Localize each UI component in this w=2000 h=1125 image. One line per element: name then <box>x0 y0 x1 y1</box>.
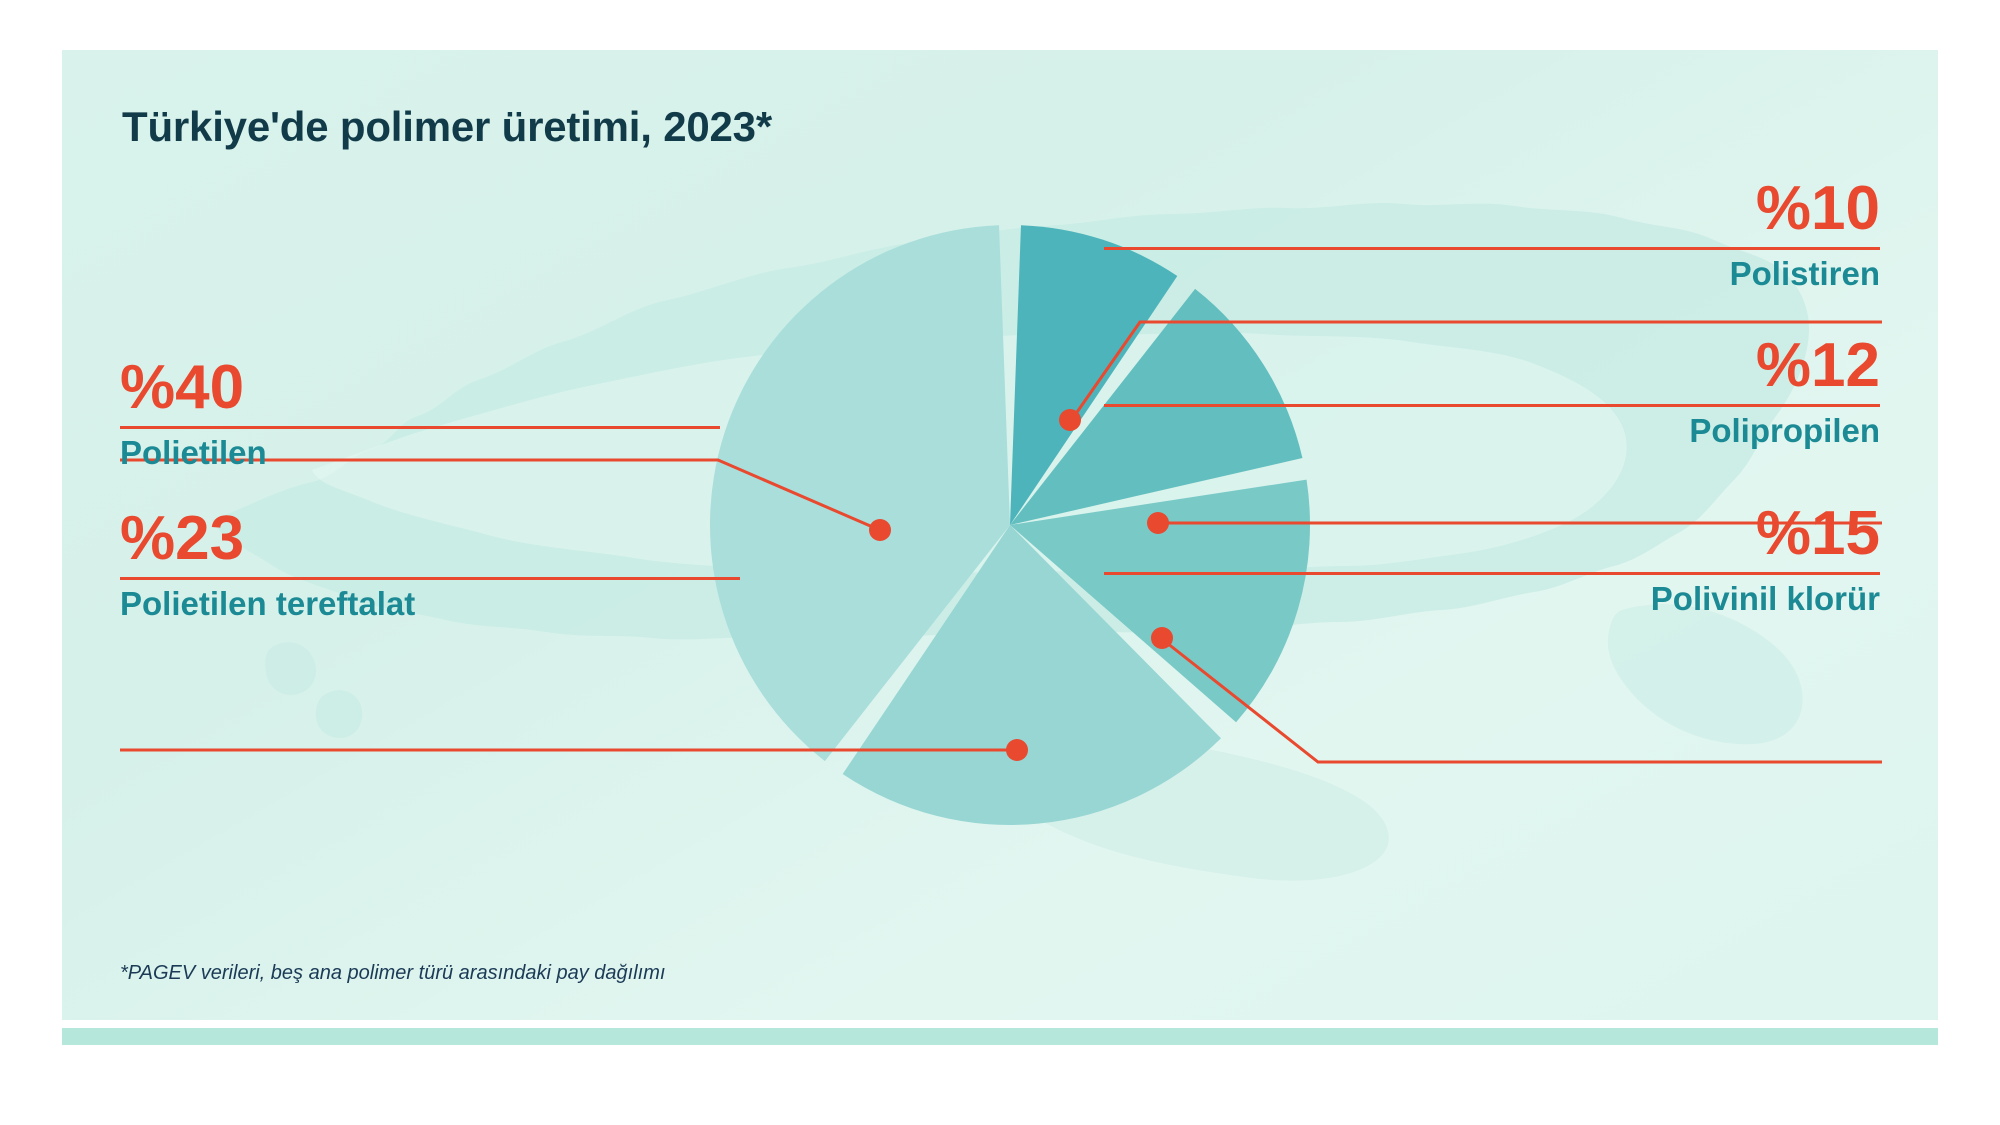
callout-percent-polipropilen: %12 <box>1104 335 1880 397</box>
callout-label-pvc: Polivinil klorür <box>1104 581 1880 617</box>
callout-percent-polietilen: %40 <box>120 357 720 419</box>
callout-rule-polietilen <box>120 426 720 429</box>
callout-label-polipropilen: Polipropilen <box>1104 413 1880 449</box>
callout-rule-pet <box>120 577 740 580</box>
callout-label-polietilen: Polietilen <box>120 435 720 471</box>
callout-pet: %23 Polietilen tereftalat <box>120 508 740 622</box>
chart-footnote: *PAGEV verileri, beş ana polimer türü ar… <box>120 962 665 985</box>
callout-polietilen: %40 Polietilen <box>120 357 720 471</box>
callout-polipropilen: %12 Polipropilen <box>1104 335 1880 449</box>
callout-percent-pvc: %15 <box>1104 503 1880 565</box>
callout-label-pet: Polietilen tereftalat <box>120 586 740 622</box>
bottom-accent-bar <box>62 1028 1938 1045</box>
page-title: Türkiye'de polimer üretimi, 2023* <box>122 103 772 151</box>
callout-percent-polistiren: %10 <box>1104 178 1880 240</box>
callout-label-polistiren: Polistiren <box>1104 256 1880 292</box>
callout-rule-polistiren <box>1104 247 1880 250</box>
callout-polistiren: %10 Polistiren <box>1104 178 1880 292</box>
callout-percent-pet: %23 <box>120 508 740 570</box>
callout-pvc: %15 Polivinil klorür <box>1104 503 1880 617</box>
infographic-canvas: Türkiye'de polimer üretimi, 2023* %10 Po… <box>0 0 2000 1125</box>
callout-rule-pvc <box>1104 572 1880 575</box>
callout-rule-polipropilen <box>1104 404 1880 407</box>
